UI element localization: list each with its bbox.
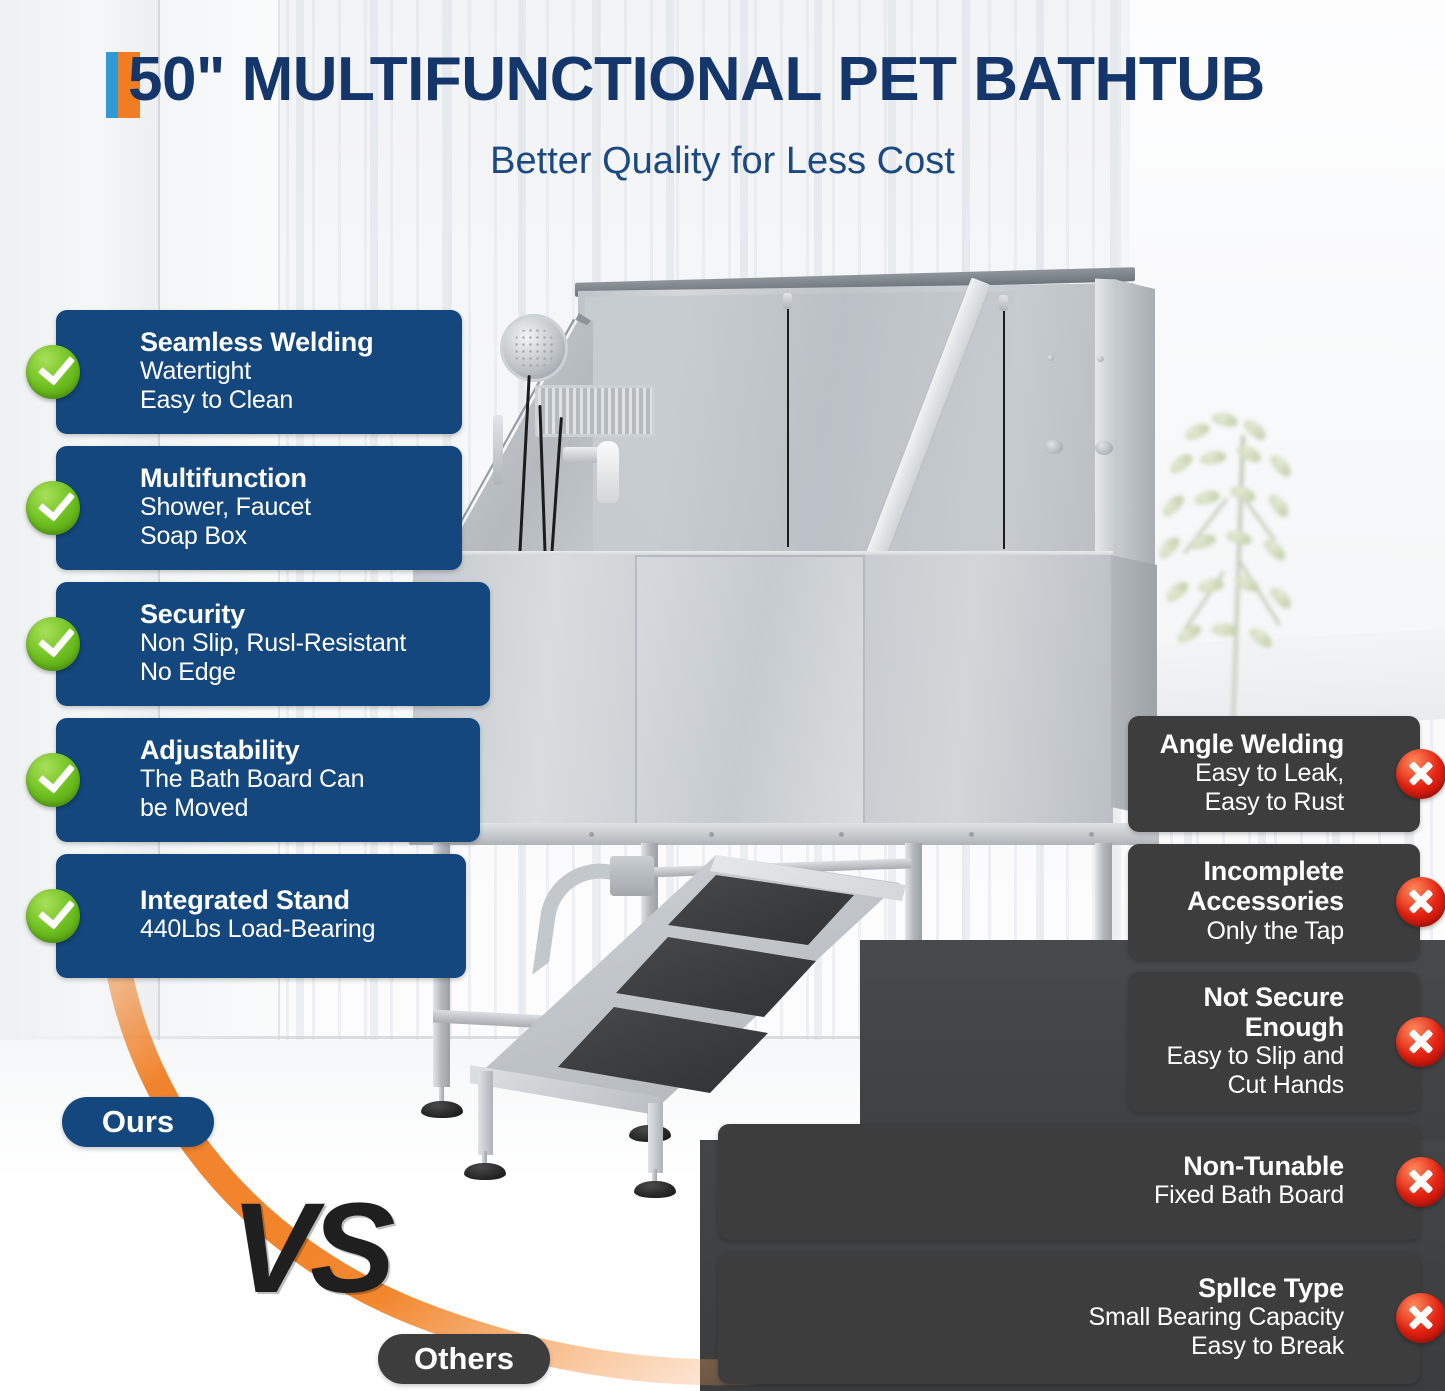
cross-icon (1396, 877, 1445, 927)
ramp-leg (648, 1103, 663, 1173)
ours-label-pill: Ours (62, 1097, 214, 1147)
tub-back-side (1113, 279, 1155, 579)
pro-feature-security[interactable]: Security Non Slip, Rusl-Resistant No Edg… (56, 582, 490, 706)
vs-label: VS (205, 1175, 415, 1322)
con-feature-not-secure-enough[interactable]: Not Secure Enough Easy to Slip and Cut H… (1128, 972, 1420, 1112)
pro-title: Integrated Stand (140, 885, 350, 915)
con-desc: Only the Tap (1206, 917, 1344, 946)
ours-label-text: Ours (102, 1104, 174, 1140)
wall-screw (1047, 355, 1054, 361)
con-desc: Fixed Bath Board (1154, 1181, 1344, 1210)
pet-leash-cable (1003, 301, 1005, 549)
pro-title: Adjustability (140, 735, 299, 765)
pro-feature-adjustability[interactable]: Adjustability The Bath Board Can be Move… (56, 718, 480, 842)
adjustable-foot (421, 1101, 463, 1118)
cross-icon (1396, 1293, 1445, 1343)
cross-icon (1396, 1017, 1445, 1067)
con-feature-non-tunable[interactable]: Non-Tunable Fixed Bath Board (718, 1124, 1420, 1240)
pet-leash-clip (783, 293, 792, 309)
soap-box (535, 385, 655, 437)
check-icon (26, 481, 80, 535)
shower-holder (493, 415, 503, 485)
pro-title: Security (140, 599, 245, 629)
plant-decoration (1150, 395, 1330, 725)
ramp-leg (478, 1071, 493, 1155)
others-label-text: Others (414, 1341, 514, 1377)
check-icon (26, 617, 80, 671)
pro-feature-multifunction[interactable]: Multifunction Shower, Faucet Soap Box (56, 446, 462, 570)
faucet-handle (597, 441, 619, 503)
con-title: Incomplete Accessories (1187, 856, 1344, 916)
pro-feature-integrated-stand[interactable]: Integrated Stand 440Lbs Load-Bearing (56, 854, 466, 978)
con-title: Non-Tunable (1183, 1151, 1344, 1181)
wall-screw (1097, 356, 1104, 362)
others-label-pill: Others (378, 1334, 550, 1384)
wall-knob (1045, 440, 1063, 454)
adjustable-foot (464, 1163, 506, 1180)
con-title: Spllce Type (1198, 1273, 1344, 1303)
con-desc: Easy to Slip and Cut Hands (1167, 1042, 1344, 1101)
non-slip-ramp (470, 855, 900, 1155)
cross-icon (1396, 1157, 1445, 1207)
pro-desc: 440Lbs Load-Bearing (140, 915, 375, 944)
con-feature-spllce-type[interactable]: Spllce Type Small Bearing Capacity Easy … (718, 1252, 1420, 1384)
wall-knob (1095, 441, 1113, 455)
con-title: Not Secure Enough (1203, 982, 1344, 1042)
con-desc: Easy to Leak, Easy to Rust (1195, 759, 1344, 818)
stand-top-rail (409, 823, 1159, 845)
con-desc: Small Bearing Capacity Easy to Break (1089, 1303, 1344, 1362)
pet-leash-cable (787, 299, 789, 547)
page-subtitle: Better Quality for Less Cost (0, 140, 1445, 183)
con-feature-incomplete-accessories[interactable]: Incomplete Accessories Only the Tap (1128, 844, 1420, 960)
header: 50" MULTIFUNCTIONAL PET BATHTUB Better Q… (0, 0, 1445, 210)
tub-right-frame (1095, 279, 1117, 580)
con-feature-angle-welding[interactable]: Angle Welding Easy to Leak, Easy to Rust (1128, 716, 1420, 832)
pet-leash-clip (999, 295, 1008, 311)
pro-desc: Non Slip, Rusl-Resistant No Edge (140, 629, 406, 688)
bath-board (635, 555, 865, 825)
check-icon (26, 345, 80, 399)
pro-title: Seamless Welding (140, 327, 373, 357)
con-title: Angle Welding (1160, 729, 1344, 759)
pro-desc: Watertight Easy to Clean (140, 357, 293, 416)
adjustable-foot (634, 1181, 676, 1198)
check-icon (26, 753, 80, 807)
pro-title: Multifunction (140, 463, 307, 493)
pro-feature-seamless-welding[interactable]: Seamless Welding Watertight Easy to Clea… (56, 310, 462, 434)
cross-icon (1396, 749, 1445, 799)
check-icon (26, 889, 80, 943)
shower-head-icon (503, 317, 565, 379)
pro-desc: The Bath Board Can be Moved (140, 765, 364, 824)
page-title: 50" MULTIFUNCTIONAL PET BATHTUB (128, 44, 1358, 115)
pro-desc: Shower, Faucet Soap Box (140, 493, 311, 552)
